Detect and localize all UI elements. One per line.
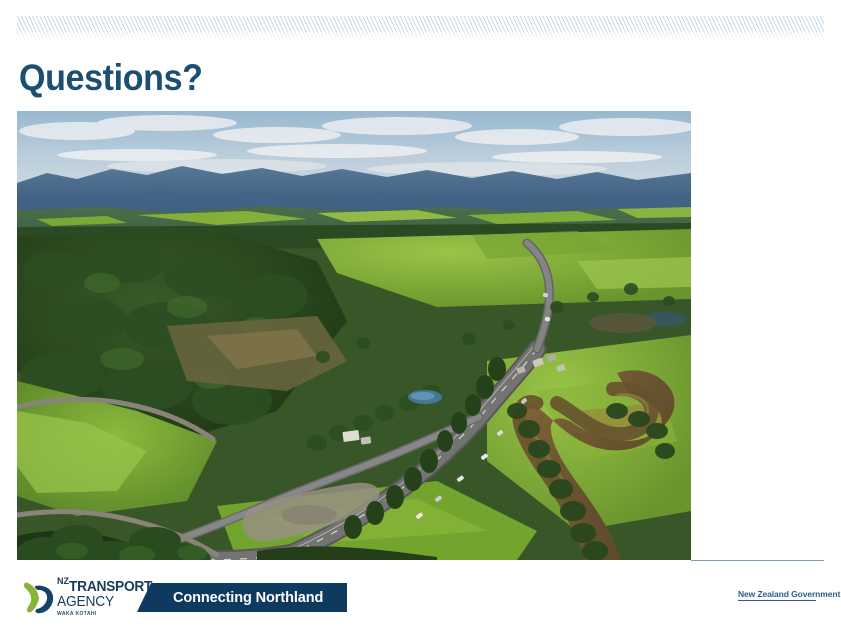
nzta-nz-prefix: NZ: [57, 576, 69, 587]
nzta-wordmark-line1: NZTRANSPORT: [57, 580, 152, 595]
footer-divider-rule: [691, 560, 824, 561]
aerial-photo: [17, 111, 691, 560]
new-zealand-government-logo: New Zealand Government: [738, 589, 840, 599]
connecting-northland-banner: Connecting Northland: [137, 583, 347, 612]
nz-transport-agency-logo: NZTRANSPORT AGENCY WAKA KOTAHI: [22, 577, 134, 619]
nzta-transport-text: TRANSPORT: [69, 579, 152, 595]
nzta-koru-mark-icon: [22, 580, 56, 616]
slide: Questions?: [0, 0, 841, 626]
slide-footer: NZTRANSPORT AGENCY WAKA KOTAHI Connectin…: [0, 575, 841, 626]
nzta-maori-text: WAKA KOTAHI: [57, 612, 157, 617]
aerial-photo-illustration: [17, 111, 691, 560]
page-title: Questions?: [19, 58, 203, 99]
nzta-agency-text: AGENCY: [57, 595, 152, 610]
nzgov-underline: [738, 600, 816, 601]
hatch-band-decoration: [17, 16, 824, 40]
